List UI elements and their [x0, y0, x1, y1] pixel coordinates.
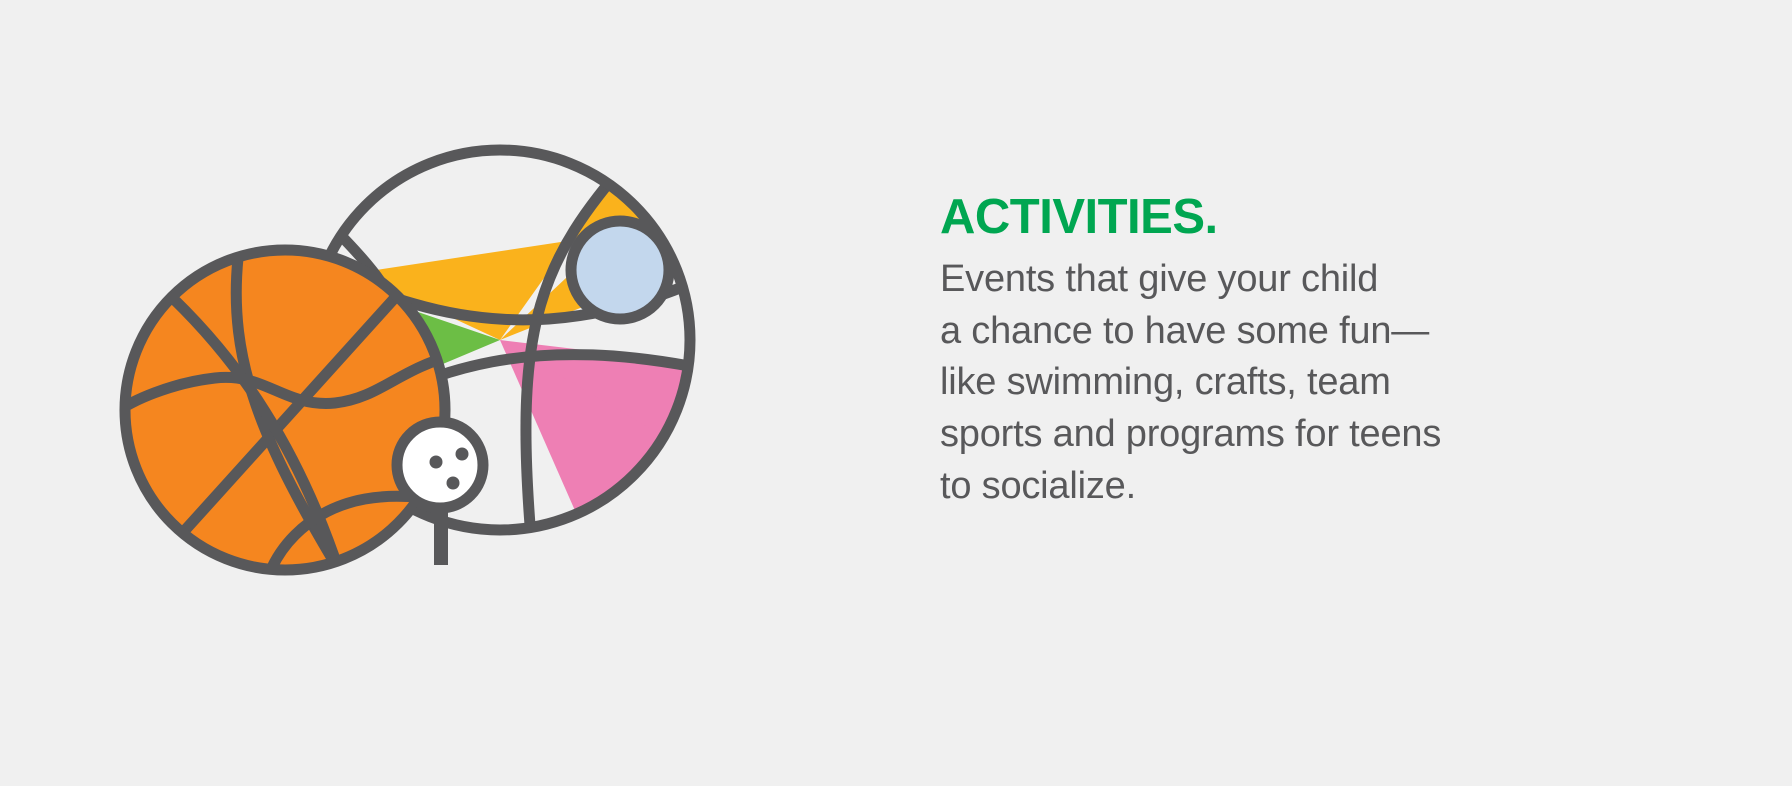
golf-ball-dimple-2 — [456, 448, 469, 461]
golf-ball — [397, 422, 483, 508]
beach-ball-hub — [571, 221, 669, 319]
body-copy-line-4: sports and programs for teens — [940, 409, 1660, 461]
page-title: ACTIVITIES. — [940, 192, 1660, 244]
golf-ball-dimple-1 — [430, 456, 443, 469]
sports-balls-illustration — [110, 110, 840, 620]
body-copy-line-5: to socialize. — [940, 461, 1660, 513]
body-copy-line-3: like swimming, crafts, team — [940, 357, 1660, 409]
page-root: ACTIVITIES. Events that give your child … — [0, 0, 1792, 786]
body-copy-line-1: Events that give your child — [940, 254, 1660, 306]
golf-ball-dimple-3 — [447, 477, 460, 490]
body-copy-line-2: a chance to have some fun— — [940, 306, 1660, 358]
illustration-svg — [110, 110, 840, 620]
copy-block: ACTIVITIES. Events that give your child … — [940, 192, 1660, 512]
body-copy: Events that give your child a chance to … — [940, 254, 1660, 512]
